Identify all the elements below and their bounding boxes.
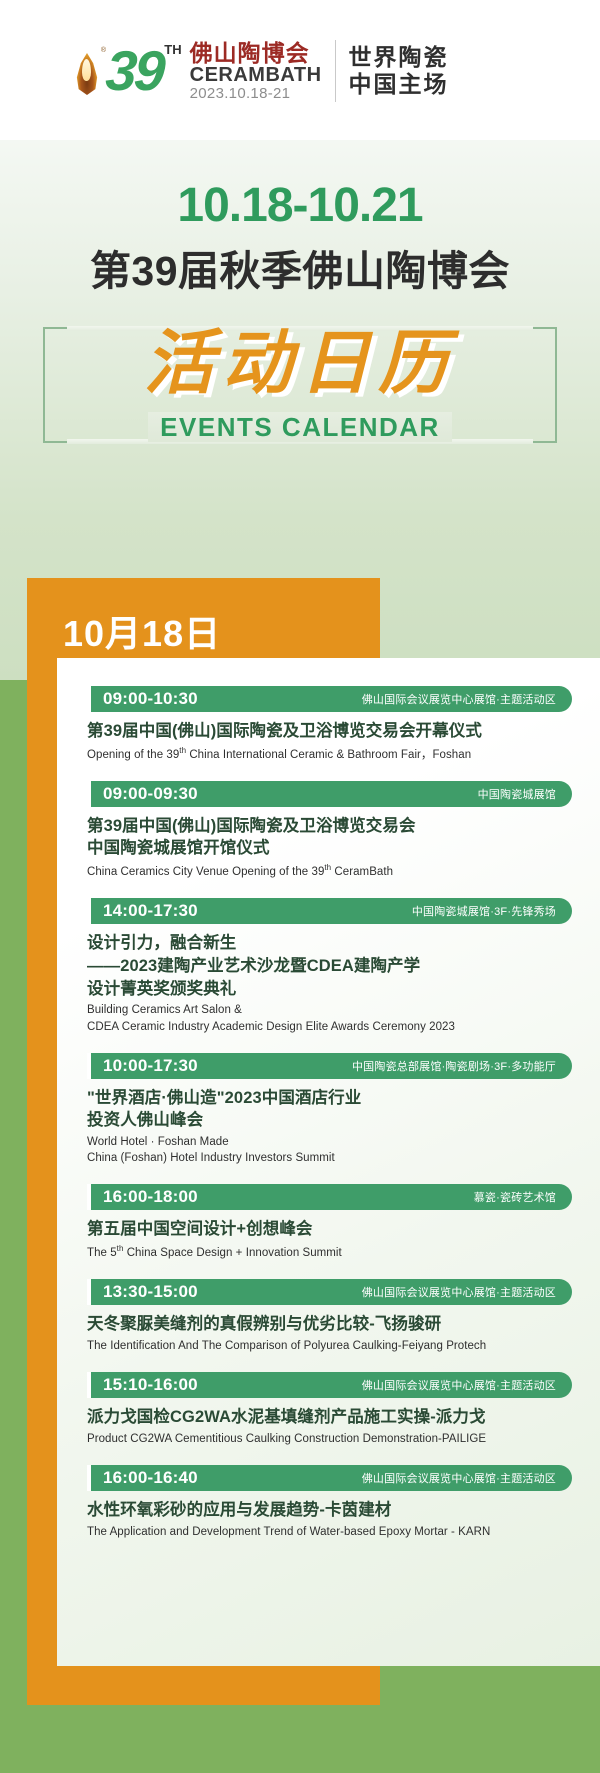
event-title-cn: 设计引力，融合新生——2023建陶产业艺术沙龙暨CDEA建陶产学设计菁英奖颁奖典…	[87, 932, 572, 1000]
header-divider	[335, 40, 336, 102]
slogan-block: 世界陶瓷 中国主场	[349, 44, 449, 98]
event-title-cn: 派力戈国检CG2WA水泥基填缝剂产品施工实操-派力戈	[87, 1406, 572, 1429]
event-venue: 中国陶瓷城展馆·3F·先锋秀场	[412, 903, 556, 919]
event-title-cn: 天冬聚脲美缝剂的真假辨别与优劣比较-飞扬骏研	[87, 1313, 572, 1336]
event-title-en: Product CG2WA Cementitious Caulking Cons…	[87, 1431, 572, 1447]
registered-mark-icon: ®	[101, 47, 106, 54]
event-time-venue-bar: 13:30-15:00佛山国际会议展览中心展馆·主题活动区	[87, 1279, 572, 1305]
event-time: 09:00-10:30	[97, 689, 198, 709]
event-venue: 佛山国际会议展览中心展馆·主题活动区	[362, 691, 556, 707]
event-time-venue-bar: 15:10-16:00佛山国际会议展览中心展馆·主题活动区	[87, 1372, 572, 1398]
event-title-en: The 5th China Space Design + Innovation …	[87, 1243, 572, 1261]
event-title-en: China Ceramics City Venue Opening of the…	[87, 862, 572, 880]
event-item[interactable]: 09:00-10:30佛山国际会议展览中心展馆·主题活动区第39届中国(佛山)国…	[57, 686, 600, 763]
event-time: 16:00-18:00	[97, 1187, 198, 1207]
event-item[interactable]: 14:00-17:30中国陶瓷城展馆·3F·先锋秀场设计引力，融合新生——202…	[57, 898, 600, 1034]
event-venue: 佛山国际会议展览中心展馆·主题活动区	[362, 1284, 556, 1300]
hero-main-title: 第39届秋季佛山陶博会	[0, 237, 600, 297]
calendar-title-en-text: EVENTS CALENDAR	[148, 412, 452, 442]
brand-block: 佛山陶博会 CERAMBATH 2023.10.18-21	[190, 41, 322, 102]
event-item[interactable]: 16:00-16:40佛山国际会议展览中心展馆·主题活动区水性环氧彩砂的应用与发…	[57, 1465, 600, 1540]
edition-suffix: TH	[164, 42, 181, 57]
brand-date: 2023.10.18-21	[190, 86, 322, 102]
slogan-line-2: 中国主场	[349, 71, 449, 98]
event-time: 10:00-17:30	[97, 1056, 198, 1076]
event-title-en: The Application and Development Trend of…	[87, 1524, 572, 1540]
event-time: 15:10-16:00	[97, 1375, 198, 1395]
event-time: 13:30-15:00	[97, 1282, 198, 1302]
event-item[interactable]: 10:00-17:30中国陶瓷总部展馆·陶瓷剧场·3F·多功能厅"世界酒店·佛山…	[57, 1053, 600, 1167]
event-title-en: Building Ceramics Art Salon &CDEA Cerami…	[87, 1002, 572, 1034]
event-item[interactable]: 13:30-15:00佛山国际会议展览中心展馆·主题活动区天冬聚脲美缝剂的真假辨…	[57, 1279, 600, 1354]
brand-name-cn: 佛山陶博会	[190, 41, 322, 65]
calendar-title-cn: 活动日历	[0, 307, 600, 408]
calendar-title-en: EVENTS CALENDAR	[0, 412, 600, 443]
event-venue: 中国陶瓷总部展馆·陶瓷剧场·3F·多功能厅	[352, 1058, 556, 1074]
event-title-en: Opening of the 39th China International …	[87, 745, 572, 763]
poster-root: ® 39 TH 佛山陶博会 CERAMBATH 2023.10.18-21 世界…	[0, 0, 600, 1773]
event-time-venue-bar: 09:00-09:30中国陶瓷城展馆	[87, 781, 572, 807]
header-band: ® 39 TH 佛山陶博会 CERAMBATH 2023.10.18-21 世界…	[0, 0, 600, 140]
hero-date-range: 10.18-10.21	[0, 178, 600, 233]
event-venue: 佛山国际会议展览中心展馆·主题活动区	[362, 1470, 556, 1486]
event-time-venue-bar: 09:00-10:30佛山国际会议展览中心展馆·主题活动区	[87, 686, 572, 712]
event-title-cn: 第五届中国空间设计+创想峰会	[87, 1218, 572, 1241]
event-title-cn: "世界酒店·佛山造"2023中国酒店行业投资人佛山峰会	[87, 1087, 572, 1133]
event-title-cn: 第39届中国(佛山)国际陶瓷及卫浴博览交易会中国陶瓷城展馆开馆仪式	[87, 815, 572, 861]
flame-icon: ®	[72, 45, 102, 97]
brand-name-en: CERAMBATH	[190, 65, 322, 86]
events-list: 09:00-10:30佛山国际会议展览中心展馆·主题活动区第39届中国(佛山)国…	[57, 686, 600, 1540]
event-venue: 中国陶瓷城展馆	[478, 786, 556, 802]
event-time-venue-bar: 10:00-17:30中国陶瓷总部展馆·陶瓷剧场·3F·多功能厅	[87, 1053, 572, 1079]
day-label: 10月18日	[63, 605, 221, 657]
event-item[interactable]: 09:00-09:30中国陶瓷城展馆第39届中国(佛山)国际陶瓷及卫浴博览交易会…	[57, 781, 600, 880]
events-card: 09:00-10:30佛山国际会议展览中心展馆·主题活动区第39届中国(佛山)国…	[57, 658, 600, 1666]
event-title-en: The Identification And The Comparison of…	[87, 1338, 572, 1354]
event-venue: 慕瓷·瓷砖艺术馆	[474, 1189, 556, 1205]
brand-logo-row: ® 39 TH 佛山陶博会 CERAMBATH 2023.10.18-21 世界…	[72, 40, 449, 102]
event-title-en: World Hotel · Foshan MadeChina (Foshan) …	[87, 1134, 572, 1166]
event-item[interactable]: 16:00-18:00慕瓷·瓷砖艺术馆第五届中国空间设计+创想峰会The 5th…	[57, 1184, 600, 1261]
slogan-line-1: 世界陶瓷	[349, 44, 449, 71]
edition-number: 39	[104, 43, 164, 99]
event-title-cn: 水性环氧彩砂的应用与发展趋势-卡茵建材	[87, 1499, 572, 1522]
event-time: 09:00-09:30	[97, 784, 198, 804]
event-venue: 佛山国际会议展览中心展馆·主题活动区	[362, 1377, 556, 1393]
event-item[interactable]: 15:10-16:00佛山国际会议展览中心展馆·主题活动区派力戈国检CG2WA水…	[57, 1372, 600, 1447]
event-time: 14:00-17:30	[97, 901, 198, 921]
event-time-venue-bar: 16:00-18:00慕瓷·瓷砖艺术馆	[87, 1184, 572, 1210]
event-time-venue-bar: 16:00-16:40佛山国际会议展览中心展馆·主题活动区	[87, 1465, 572, 1491]
event-time: 16:00-16:40	[97, 1468, 198, 1488]
event-time-venue-bar: 14:00-17:30中国陶瓷城展馆·3F·先锋秀场	[87, 898, 572, 924]
event-title-cn: 第39届中国(佛山)国际陶瓷及卫浴博览交易会开幕仪式	[87, 720, 572, 743]
